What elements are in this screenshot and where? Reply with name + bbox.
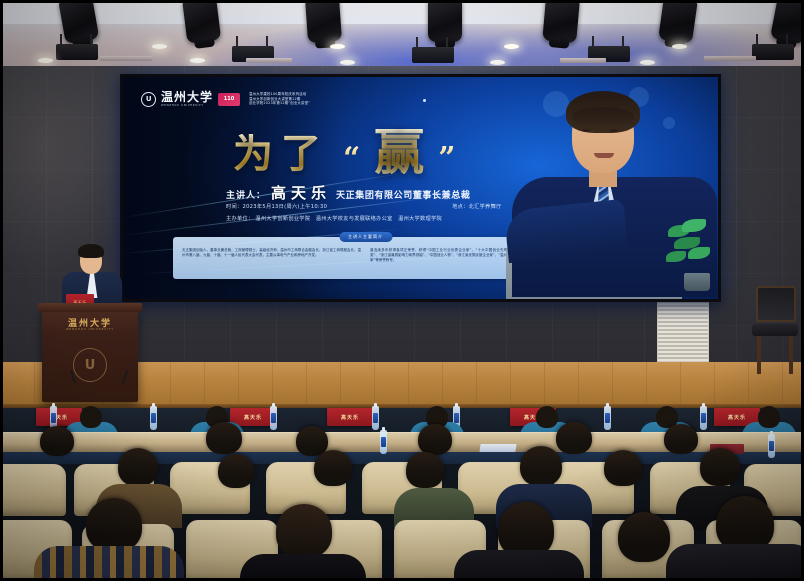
photo-border-top xyxy=(0,0,804,3)
title-keyword: 赢 xyxy=(374,129,424,174)
university-name-cn: 温州大学 xyxy=(161,91,213,103)
audience-head xyxy=(86,498,142,552)
audience-head xyxy=(406,452,444,488)
water-bottle xyxy=(700,406,707,430)
portrait-eye-right xyxy=(610,129,618,132)
audience-head xyxy=(40,426,74,456)
ceiling-shelf xyxy=(246,58,292,63)
water-bottle xyxy=(768,434,775,458)
anniversary-badge: 110 xyxy=(218,93,240,106)
lighting-truss xyxy=(0,0,804,26)
guest-head xyxy=(80,406,102,428)
time-value: 2023年5月13日(周六)上午10:30 xyxy=(242,203,327,210)
water-bottle xyxy=(604,406,611,430)
plant-leaf xyxy=(682,219,706,232)
audience-head xyxy=(700,448,740,486)
downlight-icon xyxy=(640,60,655,65)
audience-shoulders xyxy=(240,554,366,581)
podium-area: 高天乐 温州大学 WENZHOU UNIVERSITY U xyxy=(28,238,148,398)
microphone-icon xyxy=(122,370,128,384)
downlight-icon xyxy=(504,44,519,49)
podium: 温州大学 WENZHOU UNIVERSITY U xyxy=(42,308,138,402)
series-line-3: 创业学院2023年第12期“创业大讲堂” xyxy=(249,101,310,106)
placard-text: 高天乐 xyxy=(341,414,359,421)
ceiling-shelf xyxy=(560,58,606,63)
bio-badge: 主讲人主要简介 xyxy=(339,232,392,242)
podium-seal-icon: U xyxy=(73,348,107,382)
speaker-bio-box: 主讲人主要简介 天正集团创始人、董事长兼总裁，工商管理硕士、高级经济师，温州市工… xyxy=(173,237,558,279)
speaker-name: 高天乐 xyxy=(271,182,331,203)
slide-logo-row: U 温州大学 WENZHOU UNIVERSITY 110 温州大学建校100周… xyxy=(141,91,310,107)
guest-head xyxy=(536,406,558,428)
title-quote-close: ” xyxy=(438,144,455,174)
bio-col-1: 天正集团创始人、董事长兼总裁，工商管理硕士、高级经济师，温州市工商联合会副会长，… xyxy=(182,248,361,264)
photo-border-left xyxy=(0,0,3,581)
stage-chair xyxy=(752,286,798,374)
speaker-hair xyxy=(78,244,104,258)
audience-seating xyxy=(0,432,804,581)
audience-shoulders xyxy=(666,544,804,581)
stage-light-icon xyxy=(182,0,221,44)
slide-speaker-row: 主讲人： 高天乐 天正集团有限公司董事长兼总裁 xyxy=(226,182,470,203)
plant-leaf xyxy=(666,251,686,262)
podium-top xyxy=(38,303,142,312)
bio-columns: 天正集团创始人、董事长兼总裁，工商管理硕士、高级经济师，温州市工商联合会副会长，… xyxy=(182,248,549,264)
plant-pot xyxy=(684,273,710,291)
chair-back xyxy=(756,286,796,322)
audience-head xyxy=(314,450,352,486)
university-name-block: 温州大学 WENZHOU UNIVERSITY xyxy=(161,91,213,107)
notebook xyxy=(479,444,516,452)
downlight-icon xyxy=(340,60,355,65)
place-label: 地点： xyxy=(452,203,468,210)
stage-light-icon xyxy=(542,0,580,43)
audience-head xyxy=(218,454,254,488)
audience-head xyxy=(664,424,698,454)
audience-head xyxy=(556,422,592,454)
downlight-icon xyxy=(38,58,53,63)
portrait-plant xyxy=(664,219,716,291)
speaker-label: 主讲人： xyxy=(226,188,266,201)
chair-leg xyxy=(757,336,761,374)
host-value: 温州大学创新创业学院 温州大学校友与发展联络办公室 温州大学数理学院 xyxy=(255,216,442,222)
placard-text: 高天乐 xyxy=(728,414,746,421)
ceiling-shelf xyxy=(704,56,756,61)
stage-light-icon xyxy=(428,0,462,42)
auditorium-seat xyxy=(0,464,66,516)
portrait-mouth xyxy=(594,153,614,158)
ceiling-fixture xyxy=(412,47,454,63)
audience-shoulders xyxy=(34,546,184,581)
podium-university-en: WENZHOU UNIVERSITY xyxy=(42,328,138,331)
led-screen: U 温州大学 WENZHOU UNIVERSITY 110 温州大学建校100周… xyxy=(120,74,721,302)
stage-light-icon xyxy=(305,0,342,43)
stage-light-icon xyxy=(658,0,698,44)
name-placard: 高天乐 xyxy=(327,408,373,426)
portrait-hair xyxy=(566,91,640,133)
downlight-icon xyxy=(152,44,167,49)
chair-leg xyxy=(789,336,793,374)
audience-shoulders xyxy=(454,550,584,581)
ceiling-fixture xyxy=(752,44,794,60)
slide-title: 为了 “ 赢 ” xyxy=(233,129,456,174)
ceiling-fixture xyxy=(56,44,98,60)
host-label: 主办单位： xyxy=(226,216,253,222)
stage-light-icon xyxy=(58,0,99,44)
ceiling-shelf xyxy=(100,56,152,61)
title-quote-open: “ xyxy=(343,144,360,174)
title-prefix: 为了 xyxy=(233,134,329,174)
audience-head xyxy=(418,424,452,455)
chair-seat xyxy=(752,324,798,336)
plant-leaf xyxy=(688,247,710,259)
lecture-hall-photo: U 温州大学 WENZHOU UNIVERSITY 110 温州大学建校100周… xyxy=(0,0,804,581)
water-bottle xyxy=(270,406,277,430)
place-value: 北汇学养舞厅 xyxy=(469,203,502,210)
water-bottle xyxy=(380,430,387,454)
downlight-icon xyxy=(672,44,687,49)
audience-head xyxy=(604,450,642,486)
audience-head xyxy=(118,448,158,486)
slide-host-row: 主办单位： 温州大学创新创业学院 温州大学校友与发展联络办公室 温州大学数理学院 xyxy=(226,215,442,222)
audience-head xyxy=(520,446,562,486)
event-series-text: 温州大学建校100周年校庆系列活动 温州大学创新创业大讲堂第12期 创业学院20… xyxy=(249,92,310,106)
audience-head xyxy=(206,422,242,454)
ceiling xyxy=(0,0,804,72)
downlight-icon xyxy=(330,44,345,49)
placard-text: 高天乐 xyxy=(244,414,262,421)
downlight-icon xyxy=(490,60,505,65)
university-name-en: WENZHOU UNIVERSITY xyxy=(161,104,213,107)
presentation-slide: U 温州大学 WENZHOU UNIVERSITY 110 温州大学建校100周… xyxy=(123,77,718,299)
portrait-eye-left xyxy=(582,129,590,132)
water-bottle xyxy=(150,406,157,430)
downlight-icon xyxy=(190,58,205,63)
audience-head xyxy=(618,512,670,562)
guest-head xyxy=(758,406,780,428)
speaker-portrait xyxy=(506,77,718,299)
bokeh-dot xyxy=(423,99,426,102)
water-bottle xyxy=(372,406,379,430)
audience-head xyxy=(276,504,332,558)
time-label: 时间： xyxy=(226,203,242,210)
speaker-title: 天正集团有限公司董事长兼总裁 xyxy=(336,188,470,201)
university-emblem-icon: U xyxy=(141,92,156,107)
